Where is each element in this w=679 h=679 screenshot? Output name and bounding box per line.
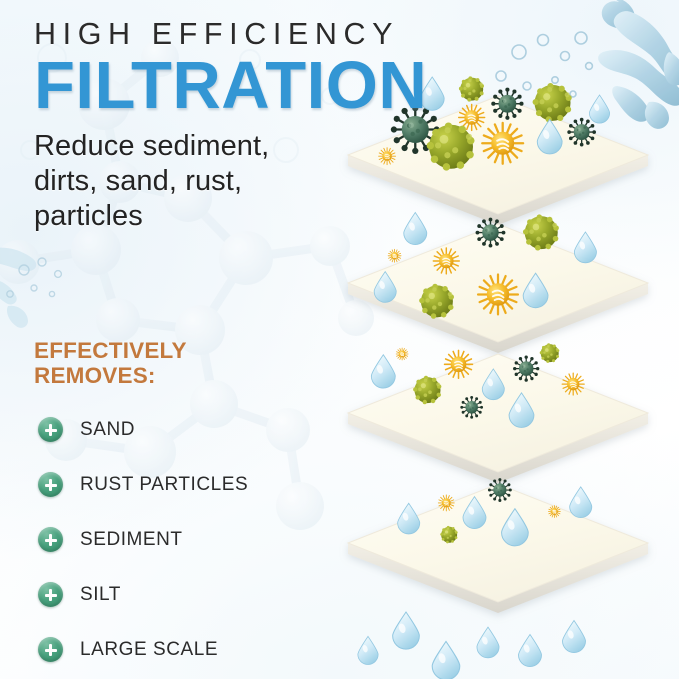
water-droplet bbox=[393, 612, 420, 649]
removes-list-item-label: LARGE SCALE bbox=[80, 639, 218, 661]
filter-layer-3 bbox=[348, 343, 648, 483]
sunburst-particle bbox=[562, 373, 584, 395]
removes-list-item[interactable]: LARGE SCALE bbox=[34, 631, 248, 668]
subtitle-line-2: dirts, sand, rust, bbox=[34, 164, 434, 199]
water-droplet bbox=[432, 641, 460, 679]
water-droplet bbox=[519, 635, 542, 667]
infographic-poster: HIGH EFFICIENCY FILTRATION Reduce sedime… bbox=[0, 0, 679, 679]
removes-heading: EFFECTIVELY REMOVES: bbox=[34, 338, 248, 388]
sunburst-particle bbox=[433, 248, 459, 274]
plus-badge-icon bbox=[38, 582, 63, 607]
water-droplet bbox=[563, 621, 586, 653]
subtitle-line-3: particles bbox=[34, 199, 434, 234]
water-droplet bbox=[589, 95, 609, 123]
water-droplet bbox=[358, 636, 378, 664]
removes-list-item[interactable]: SILT bbox=[34, 576, 248, 613]
water-droplet bbox=[570, 487, 592, 518]
effectively-removes-section: EFFECTIVELY REMOVES: SANDRUST PARTICLESS… bbox=[34, 338, 248, 679]
sunburst-particle bbox=[388, 249, 401, 262]
subtitle-line-1: Reduce sediment, bbox=[34, 129, 434, 164]
sunburst-particle bbox=[548, 506, 560, 518]
water-droplet bbox=[371, 355, 395, 388]
removes-list-item-label: SAND bbox=[80, 419, 135, 441]
plus-badge-icon bbox=[38, 417, 63, 442]
sunburst-particle bbox=[396, 348, 408, 360]
sunburst-particle bbox=[482, 123, 523, 164]
olive-particle bbox=[540, 343, 560, 363]
eyebrow-heading: HIGH EFFICIENCY bbox=[34, 18, 434, 50]
page-title: FILTRATION bbox=[34, 52, 434, 119]
water-droplet bbox=[574, 232, 596, 263]
sunburst-particle bbox=[478, 275, 518, 315]
removes-heading-line-1: EFFECTIVELY bbox=[34, 338, 248, 363]
filter-layer-4 bbox=[348, 478, 648, 613]
plus-badge-icon bbox=[38, 637, 63, 662]
removes-list-item[interactable]: SAND bbox=[34, 411, 248, 448]
removes-list-item[interactable]: SEDIMENT bbox=[34, 521, 248, 558]
water-droplet bbox=[398, 503, 420, 534]
headline-block: HIGH EFFICIENCY FILTRATION Reduce sedime… bbox=[34, 18, 434, 235]
removes-heading-line-2: REMOVES: bbox=[34, 363, 248, 388]
filtered-water-droplets bbox=[358, 612, 586, 679]
removes-list-item-label: SILT bbox=[80, 584, 121, 606]
sunburst-particle bbox=[445, 350, 473, 378]
removes-list-item-label: RUST PARTICLES bbox=[80, 474, 248, 496]
plus-badge-icon bbox=[38, 527, 63, 552]
sunburst-particle bbox=[438, 495, 454, 511]
subtitle-block: Reduce sediment, dirts, sand, rust, part… bbox=[34, 129, 434, 234]
removes-list-item-label: SEDIMENT bbox=[80, 529, 183, 551]
plus-badge-icon bbox=[38, 472, 63, 497]
removes-list-item[interactable]: RUST PARTICLES bbox=[34, 466, 248, 503]
water-splash-secondary-graphic bbox=[0, 232, 116, 352]
water-droplet bbox=[477, 627, 499, 658]
removes-list: SANDRUST PARTICLESSEDIMENTSILTLARGE SCAL… bbox=[34, 411, 248, 668]
filter-plate bbox=[348, 484, 648, 613]
